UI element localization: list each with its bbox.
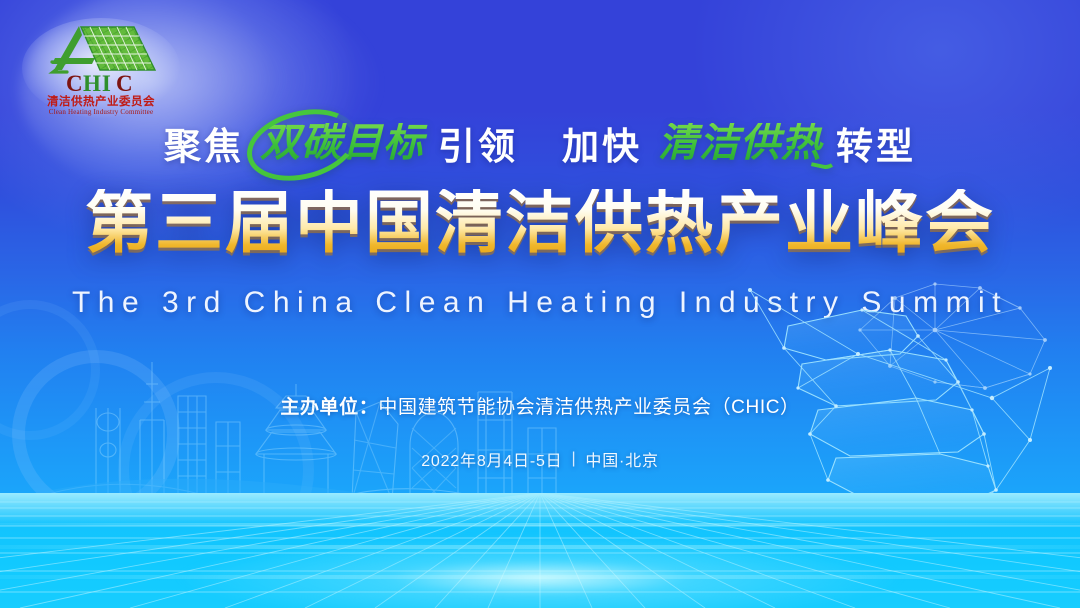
tagline-part-3: 加快 — [562, 116, 642, 170]
tagline-highlight-1-text: 双碳目标 — [260, 121, 424, 165]
svg-text:C: C — [66, 71, 84, 96]
event-location: 中国·北京 — [585, 447, 658, 471]
tagline-part-2: 引领 — [438, 116, 518, 170]
floor-wave-2 — [0, 545, 1080, 549]
floor-wave-3 — [0, 575, 1080, 579]
tagline-highlight-1: 双碳目标 — [244, 123, 438, 163]
svg-text:清洁供热产业委员会: 清洁供热产业委员会 — [47, 94, 155, 108]
poster-tagline: 聚焦 双碳目标 引领 加快 清洁供热 转型 — [0, 116, 1080, 170]
chic-logo-icon: C HI C 清洁供热产业委员会 Clean Heating Industry … — [22, 18, 180, 118]
chic-logo: C HI C 清洁供热产业委员会 Clean Heating Industry … — [22, 18, 180, 118]
leaf-icon — [811, 152, 839, 171]
floor-wave-1 — [0, 523, 1080, 526]
tagline-part-1: 聚焦 — [164, 116, 244, 170]
tagline-part-4: 转型 — [836, 116, 916, 170]
page-title: 第三届中国清洁供热产业峰会 — [0, 189, 1080, 257]
svg-text:HI: HI — [83, 71, 112, 96]
svg-text:C: C — [116, 71, 134, 96]
event-poster: C HI C 清洁供热产业委员会 Clean Heating Industry … — [0, 0, 1080, 608]
svg-text:Clean Heating Industry Committ: Clean Heating Industry Committee — [49, 108, 154, 116]
tagline-highlight-2: 清洁供热 — [642, 123, 836, 163]
event-info-separator: | — [571, 450, 576, 468]
horizon-haze — [0, 493, 1080, 525]
perspective-grid-floor — [0, 493, 1080, 608]
tagline-highlight-2-text: 清洁供热 — [658, 121, 822, 165]
